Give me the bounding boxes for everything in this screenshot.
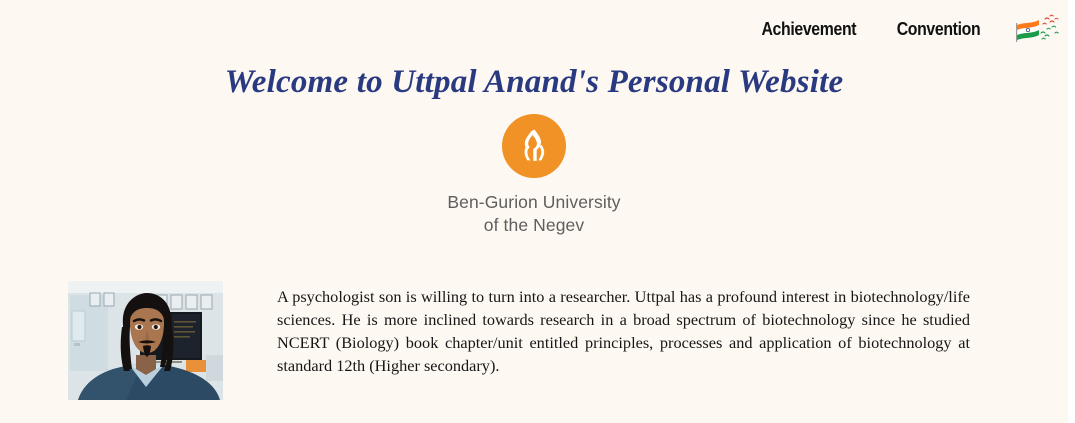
university-name-line2: of the Negev: [447, 214, 620, 237]
bio-paragraph: A psychologist son is willing to turn in…: [277, 285, 970, 378]
ben-gurion-university-flame-logo-icon: [502, 114, 566, 178]
portrait-illustration: 2: [68, 281, 223, 400]
page-title: Welcome to Uttpal Anand's Personal Websi…: [0, 64, 1068, 101]
university-name-line1: Ben-Gurion University: [447, 191, 620, 214]
page-root: Achievement Convention: [0, 0, 1068, 423]
profile-portrait-photo: 2: [68, 281, 223, 400]
nav-item-convention[interactable]: Convention: [884, 19, 992, 40]
india-flag-with-doves-icon[interactable]: [1014, 13, 1060, 45]
top-navigation: Achievement Convention: [741, 13, 1060, 45]
university-logo-block: Ben-Gurion University of the Negev: [0, 114, 1068, 237]
nav-item-achievement[interactable]: Achievement: [749, 19, 868, 40]
university-logo-text: Ben-Gurion University of the Negev: [447, 191, 620, 237]
profile-section: 2: [0, 281, 1068, 411]
